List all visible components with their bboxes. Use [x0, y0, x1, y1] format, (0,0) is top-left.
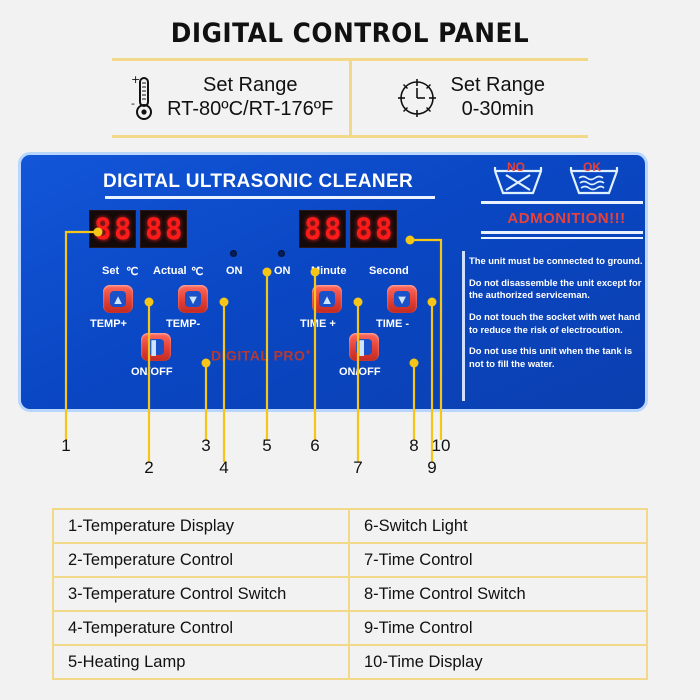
legend-cell: 10-Time Display	[350, 646, 646, 678]
seg-digit: 8	[375, 214, 392, 244]
callout-number-1: 1	[61, 436, 70, 456]
thermometer-icon: + -	[127, 73, 157, 123]
spec-time-line2: 0-30min	[450, 98, 545, 122]
temp-plus-label: TEMP+	[90, 318, 127, 330]
temp-display-actual-module: 8 8	[140, 210, 187, 248]
spec-strip: + - Set Range RT-80ºC/RT-176ºF Set Range…	[112, 58, 588, 138]
spec-temp-line2: RT-80ºC/RT-176ºF	[167, 98, 333, 122]
temp-display-set-module: 8 8	[89, 210, 136, 248]
admonition-line: Do not touch the socket with wet hand to…	[469, 311, 648, 336]
arrow-down-icon: ▼	[185, 291, 201, 307]
brand-logo-text: DIGITAL PRO	[211, 348, 305, 364]
time-minus-label: TIME -	[376, 318, 409, 330]
temp-minus-label: TEMP-	[166, 318, 200, 330]
label-on-heating: ON	[226, 265, 243, 277]
legend-table: 1-Temperature Display 6-Switch Light 2-T…	[52, 508, 648, 680]
callout-number-3: 3	[201, 436, 210, 456]
svg-text:-: -	[131, 97, 135, 110]
control-panel: DIGITAL ULTRASONIC CLEANER 8 8 8 8 8 8 8…	[18, 152, 648, 412]
legend-cell: 4-Temperature Control	[54, 612, 350, 644]
page-title: DIGITAL CONTROL PANEL	[28, 18, 672, 49]
legend-cell: 9-Time Control	[350, 612, 646, 644]
spec-temp-line1: Set Range	[167, 74, 333, 98]
legend-cell: 5-Heating Lamp	[54, 646, 350, 678]
legend-cell: 6-Switch Light	[350, 510, 646, 542]
panel-title-rule	[105, 196, 435, 199]
label-second: Second	[369, 265, 409, 277]
callout-number-5: 5	[262, 436, 271, 456]
seg-digit: 8	[145, 214, 162, 244]
seg-digit: 8	[324, 214, 341, 244]
admonition-rule-bottom	[481, 237, 643, 239]
arrow-up-icon: ▲	[319, 291, 335, 307]
callout-number-2: 2	[144, 458, 153, 478]
legend-cell: 7-Time Control	[350, 544, 646, 576]
arrow-up-icon: ▲	[110, 291, 126, 307]
spec-time-range: Set Range 0-30min	[352, 61, 589, 135]
admonition-line: Do not disassemble the unit except for t…	[469, 277, 648, 302]
basin-ok-icon: OK	[571, 161, 617, 193]
admonition-rule-mid	[481, 231, 643, 234]
time-display-minute-module: 8 8	[299, 210, 346, 248]
callout-number-6: 6	[310, 436, 319, 456]
admonition-body: The unit must be connected to ground. Do…	[469, 255, 648, 380]
seg-digit: 8	[94, 214, 111, 244]
label-set: Set	[102, 265, 119, 277]
callout-number-8: 8	[409, 436, 418, 456]
legend-row: 4-Temperature Control 9-Time Control	[54, 612, 646, 646]
svg-text:OK: OK	[583, 161, 601, 174]
seg-digit: 8	[165, 214, 182, 244]
panel-title: DIGITAL ULTRASONIC CLEANER	[103, 171, 413, 193]
time-display-second-module: 8 8	[350, 210, 397, 248]
power-icon: ▌	[356, 339, 372, 355]
time-onoff-label: ON/OFF	[339, 366, 381, 378]
brand-logo-sup: +	[305, 347, 311, 357]
admonition-line: The unit must be connected to ground.	[469, 255, 648, 268]
temp-onoff-button[interactable]: ▌	[141, 333, 171, 361]
spec-temperature-range: + - Set Range RT-80ºC/RT-176ºF	[112, 61, 352, 135]
power-icon: ▌	[148, 339, 164, 355]
legend-row: 1-Temperature Display 6-Switch Light	[54, 510, 646, 544]
legend-row: 5-Heating Lamp 10-Time Display	[54, 646, 646, 678]
time-plus-label: TIME +	[300, 318, 336, 330]
time-onoff-button[interactable]: ▌	[349, 333, 379, 361]
legend-row: 3-Temperature Control Switch 8-Time Cont…	[54, 578, 646, 612]
seg-digit: 8	[304, 214, 321, 244]
temp-plus-button[interactable]: ▲	[103, 285, 133, 313]
svg-text:+: +	[131, 73, 140, 86]
legend-cell: 1-Temperature Display	[54, 510, 350, 542]
switch-light-led	[278, 250, 285, 257]
label-actual-unit: ℃	[191, 265, 203, 278]
legend-cell: 3-Temperature Control Switch	[54, 578, 350, 610]
label-on-switch: ON	[274, 265, 291, 277]
callout-number-10: 10	[432, 436, 451, 456]
arrow-down-icon: ▼	[394, 291, 410, 307]
clock-icon	[394, 75, 440, 121]
legend-row: 2-Temperature Control 7-Time Control	[54, 544, 646, 578]
label-set-unit: ℃	[126, 265, 138, 278]
basin-no-icon: NO	[495, 161, 541, 193]
time-plus-button[interactable]: ▲	[312, 285, 342, 313]
callout-number-4: 4	[219, 458, 228, 478]
time-minus-button[interactable]: ▼	[387, 285, 417, 313]
temperature-display: 8 8 8 8	[89, 210, 187, 248]
callout-number-7: 7	[353, 458, 362, 478]
callout-number-9: 9	[427, 458, 436, 478]
heating-lamp-led	[230, 250, 237, 257]
time-display: 8 8 8 8	[299, 210, 397, 248]
admonition-line: Do not use this unit when the tank is no…	[469, 345, 648, 370]
brand-logo: DIGITAL PRO+	[211, 347, 311, 364]
svg-text:NO: NO	[507, 161, 525, 174]
seg-digit: 8	[114, 214, 131, 244]
label-actual: Actual	[153, 265, 187, 277]
temp-onoff-label: ON/OFF	[131, 366, 173, 378]
temp-minus-button[interactable]: ▼	[178, 285, 208, 313]
legend-cell: 2-Temperature Control	[54, 544, 350, 576]
admonition-rule-top	[481, 201, 643, 204]
admonition-title: ADMONITION!!!	[489, 210, 644, 227]
legend-cell: 8-Time Control Switch	[350, 578, 646, 610]
label-minute: Minute	[311, 265, 346, 277]
admonition-sidebar-rule	[462, 251, 465, 401]
spec-time-line1: Set Range	[450, 74, 545, 98]
basin-icons: NO OK	[489, 161, 639, 201]
seg-digit: 8	[355, 214, 372, 244]
